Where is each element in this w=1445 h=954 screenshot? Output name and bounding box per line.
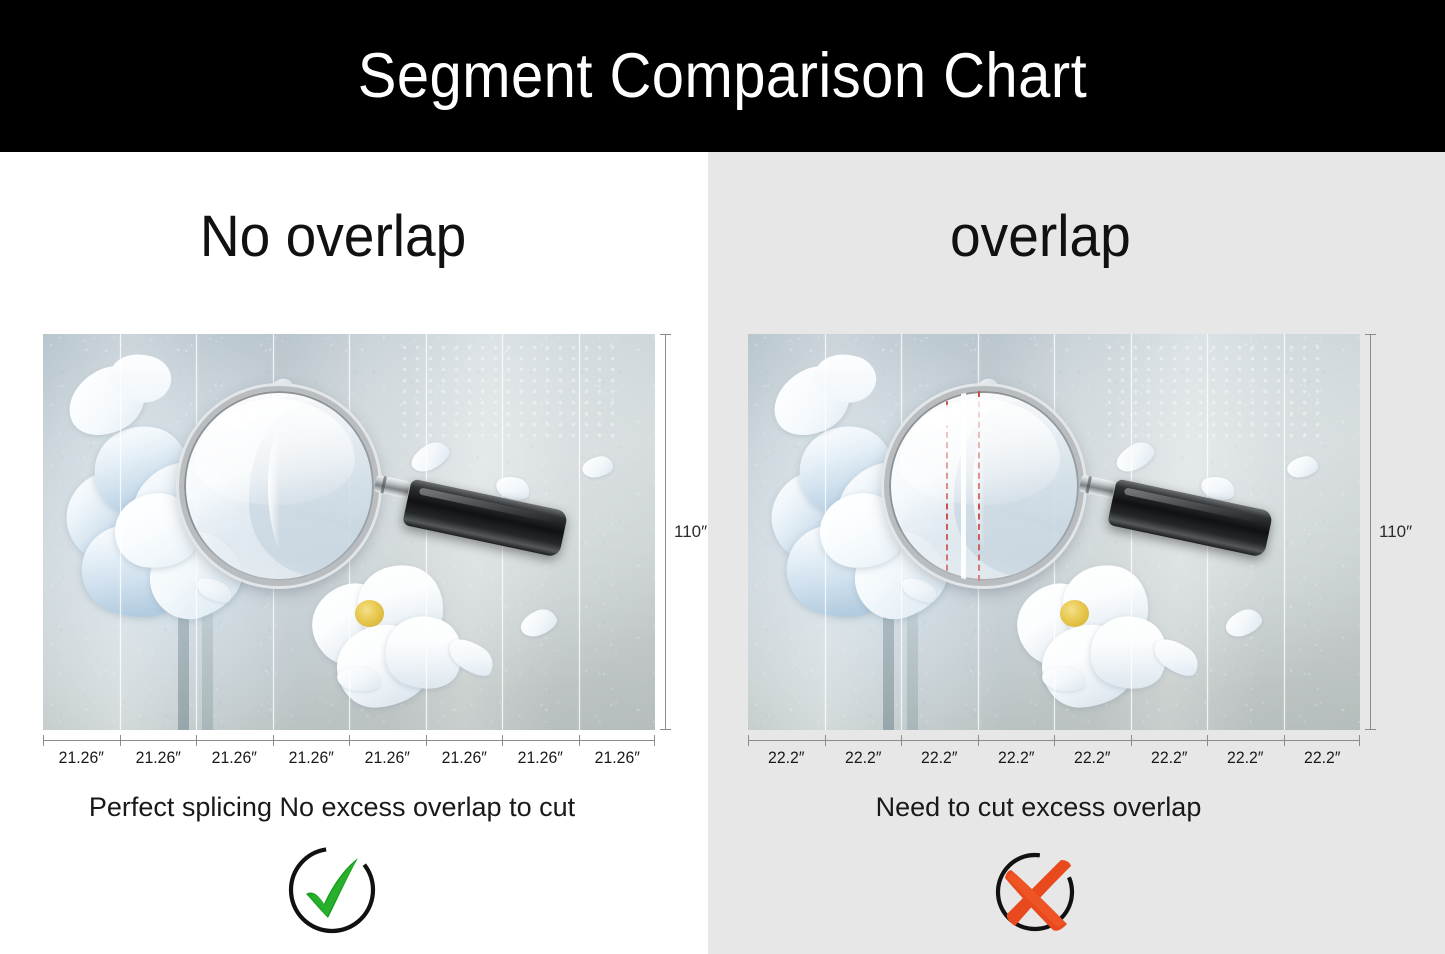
title-bar: Segment Comparison Chart: [0, 0, 1445, 152]
segment-label: 22.2″: [827, 748, 898, 768]
mural-no-overlap: [43, 334, 655, 730]
segment-label: 21.26″: [428, 748, 499, 768]
mural-image-left: [43, 334, 655, 730]
segment-label: 21.26″: [505, 748, 576, 768]
segment-label: 22.2″: [1210, 748, 1281, 768]
comparison-panels: No overlap: [0, 152, 1445, 954]
panel-heading-overlap: overlap: [726, 208, 1426, 266]
check-mark-icon: [284, 842, 380, 938]
panel-heading-no-overlap: No overlap: [18, 208, 691, 266]
blue-peony-icon: [766, 413, 974, 635]
segment-label: 21.26″: [352, 748, 423, 768]
segment-labels-left: 21.26″ 21.26″ 21.26″ 21.26″ 21.26″ 21.26…: [43, 748, 655, 768]
white-peony-icon: [312, 556, 465, 714]
page-title: Segment Comparison Chart: [358, 45, 1087, 108]
height-label-left: 110″: [674, 522, 707, 542]
texture-dots-icon: [398, 342, 618, 445]
height-label-right: 110″: [1379, 522, 1412, 542]
caption-overlap: Need to cut excess overlap: [708, 792, 1445, 823]
caption-no-overlap: Perfect splicing No excess overlap to cu…: [0, 792, 708, 823]
cross-mark-icon: [991, 842, 1087, 938]
segment-label: 21.26″: [275, 748, 346, 768]
segment-comparison-chart: Segment Comparison Chart No overlap: [0, 0, 1445, 954]
blue-peony-icon: [61, 413, 269, 635]
segment-label: 22.2″: [1286, 748, 1357, 768]
panel-no-overlap: No overlap: [0, 152, 708, 954]
texture-dots-icon: [1103, 342, 1323, 445]
segment-label: 22.2″: [751, 748, 822, 768]
segment-label: 22.2″: [980, 748, 1051, 768]
verdict-overlap: [708, 842, 1445, 938]
panel-overlap: overlap: [708, 152, 1445, 954]
segment-label: 21.26″: [46, 748, 117, 768]
segment-label: 22.2″: [904, 748, 975, 768]
segment-label: 21.26″: [581, 748, 652, 768]
segment-label: 21.26″: [199, 748, 270, 768]
mural-image-right: [748, 334, 1360, 730]
verdict-no-overlap: [0, 842, 708, 938]
segment-labels-right: 22.2″ 22.2″ 22.2″ 22.2″ 22.2″ 22.2″ 22.2…: [748, 748, 1360, 768]
segment-label: 21.26″: [122, 748, 193, 768]
segment-label: 22.2″: [1057, 748, 1128, 768]
white-peony-icon: [1017, 556, 1170, 714]
mural-overlap: [748, 334, 1360, 730]
segment-label: 22.2″: [1133, 748, 1204, 768]
